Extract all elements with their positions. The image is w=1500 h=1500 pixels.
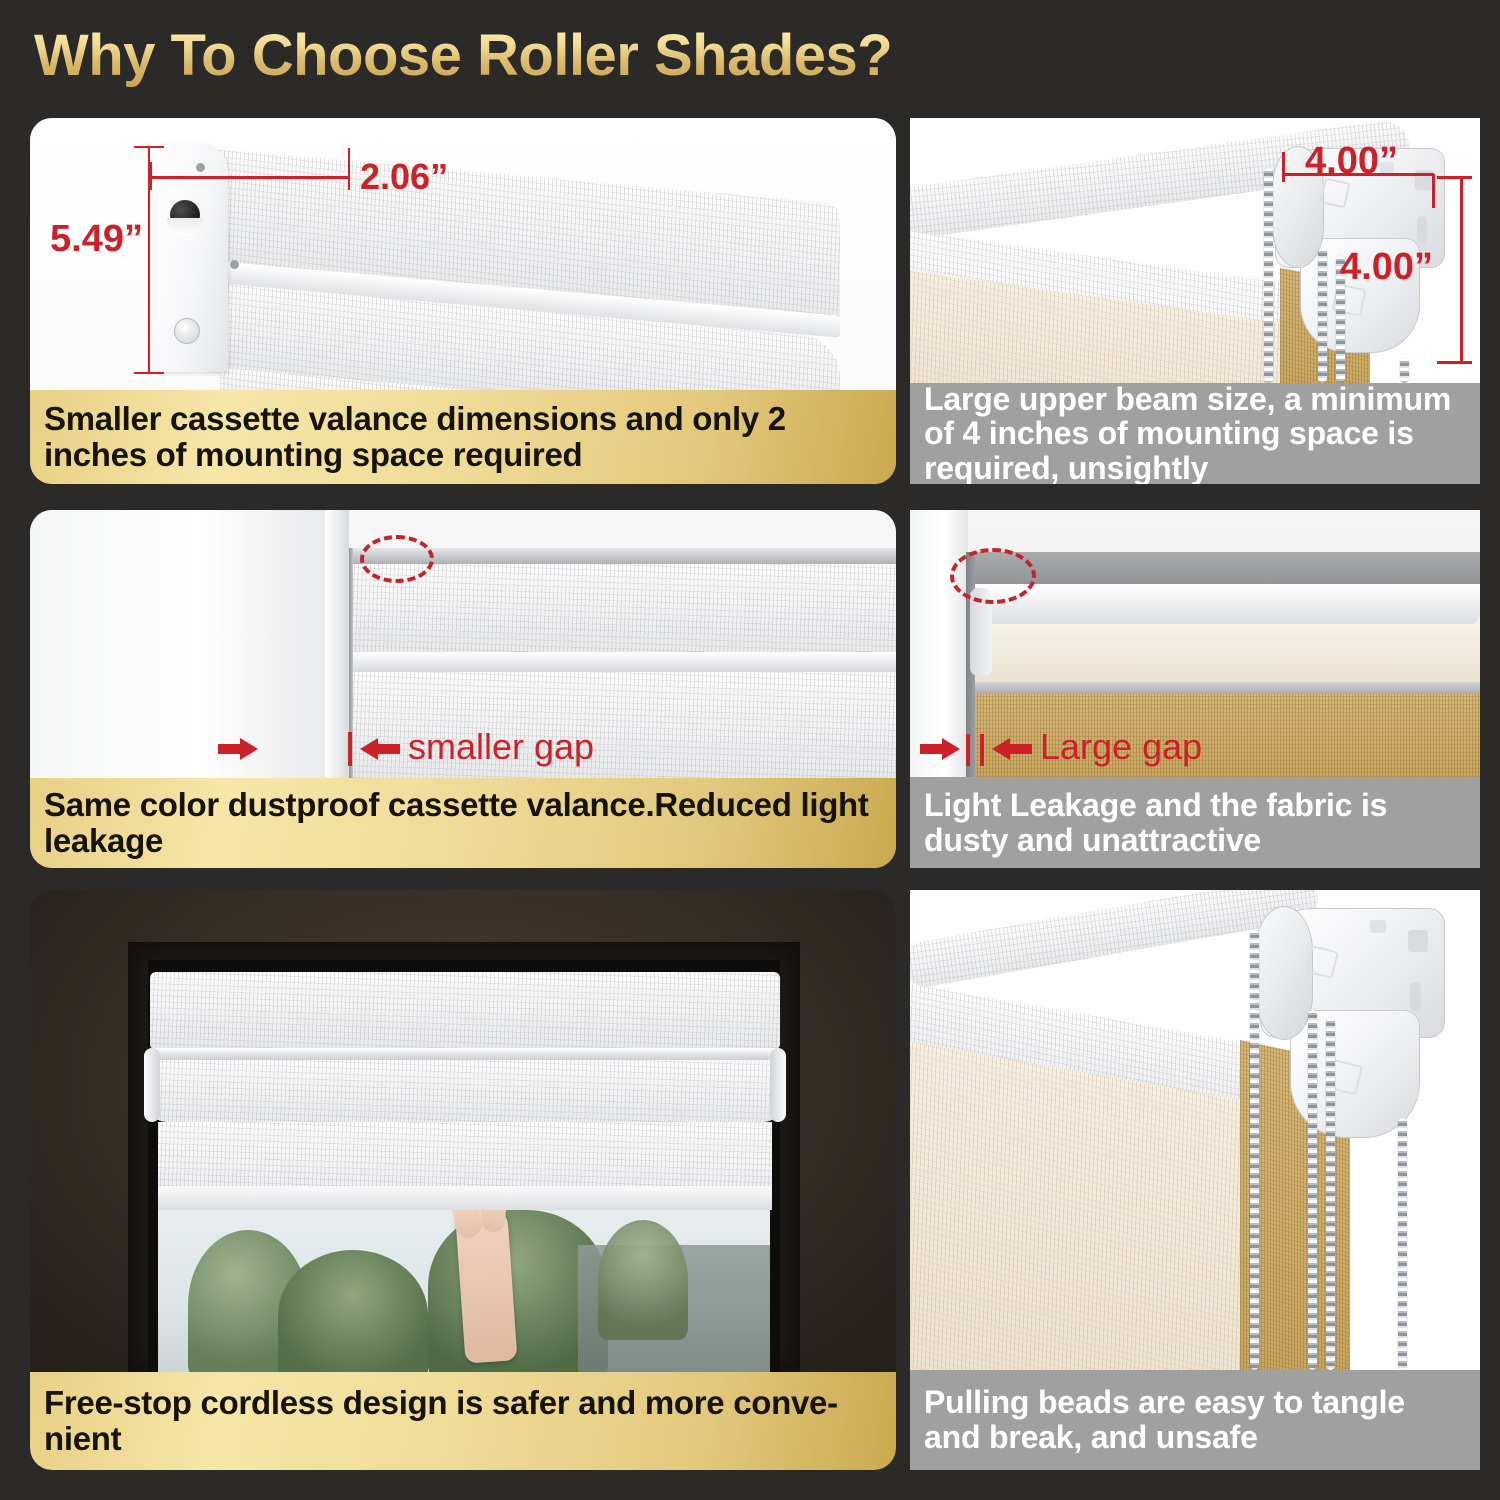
height-dim-tick-bottom (134, 372, 164, 374)
page-title: Why To Choose Roller Shades? (34, 22, 892, 89)
panel-bottom-left: Free-stop cordless design is safer and m… (30, 890, 896, 1470)
panel-bottom-right-caption: Pulling beads are easy to tangle and bre… (910, 1370, 1480, 1470)
panel-middle-right-caption: Light Leakage and the fabric is dusty an… (910, 777, 1480, 868)
panel-middle-left-image: smaller gap (30, 510, 896, 778)
panel-middle-right-caption-text: Light Leakage and the fabric is dusty an… (910, 788, 1480, 857)
bottom-rail (158, 1186, 772, 1210)
bracket-width-label: 4.00” (1305, 140, 1398, 183)
panel-bottom-left-image (30, 890, 896, 1372)
bracket-width-tick-left (1282, 152, 1285, 182)
gap-arrow-right-icon (990, 738, 1032, 760)
gap-callout-label: Large gap (1040, 726, 1202, 768)
panel-bottom-right-caption-text: Pulling beads are easy to tangle and bre… (910, 1385, 1480, 1454)
panel-middle-right: Large gap Light Leakage and the fabric i… (910, 510, 1480, 868)
panel-top-right-caption: Large upper beam size, a minimum of 4 in… (910, 383, 1480, 484)
panel-bottom-left-caption-text: Free-stop cordless design is safer and m… (30, 1385, 896, 1456)
bead-chain (1398, 1118, 1407, 1370)
panel-middle-left: smaller gap Same color dustproof cassett… (30, 510, 896, 868)
bead-chain (1250, 930, 1259, 1370)
bracket-height-label: 4.00” (1340, 246, 1433, 289)
bead-chain (1400, 358, 1409, 383)
panel-top-left: 5.49” 2.06” Smaller cassette valance dim… (30, 118, 896, 484)
width-dimension-line (150, 176, 350, 179)
panel-middle-left-caption-text: Same color dustproof cassette valance.Re… (30, 787, 896, 858)
bead-chain (1308, 1010, 1317, 1370)
panel-top-right-image: 4.00” 4.00” (910, 118, 1480, 383)
cassette-valance (150, 972, 780, 1050)
gap-arrow-left-icon (218, 738, 260, 760)
panel-middle-left-caption: Same color dustproof cassette valance.Re… (30, 778, 896, 868)
width-dimension-label: 2.06” (360, 156, 448, 198)
panel-middle-right-image: Large gap (910, 510, 1480, 777)
panel-top-right: 4.00” 4.00” Large upper beam size, a min… (910, 118, 1480, 484)
gap-arrow-left-icon (920, 738, 962, 760)
width-dim-tick-right (348, 148, 350, 190)
gap-arrow-right-icon (358, 738, 400, 760)
highlight-ellipse (360, 535, 434, 583)
gap-tick (348, 732, 352, 766)
bead-chain (1326, 1018, 1335, 1370)
panel-top-right-caption-text: Large upper beam size, a minimum of 4 in… (910, 382, 1480, 484)
bracket-height-tick-bottom (1437, 361, 1472, 364)
bracket-height-dim-line (1460, 176, 1463, 364)
height-dimension-label: 5.49” (50, 218, 143, 261)
infographic-root: Why To Choose Roller Shades? 5.49” (0, 0, 1500, 1500)
panel-top-left-caption: Smaller cassette valance dimensions and … (30, 390, 896, 484)
width-dim-tick-left (150, 162, 152, 190)
panel-top-left-image: 5.49” 2.06” (30, 118, 896, 390)
panel-bottom-right-image (910, 890, 1480, 1370)
panel-bottom-right: Pulling beads are easy to tangle and bre… (910, 890, 1480, 1470)
bead-chain (1264, 168, 1273, 383)
bracket-height-tick-top (1437, 176, 1472, 179)
height-dim-tick-top (134, 146, 164, 148)
gap-tick-b (980, 734, 984, 766)
gap-tick-a (966, 734, 970, 766)
panel-top-left-caption-text: Smaller cassette valance dimensions and … (30, 401, 896, 472)
gap-callout-label: smaller gap (408, 726, 594, 768)
bead-chain (1318, 248, 1327, 383)
panel-bottom-left-caption: Free-stop cordless design is safer and m… (30, 1372, 896, 1470)
highlight-ellipse (950, 548, 1036, 604)
bracket-width-tick-right (1432, 174, 1435, 208)
